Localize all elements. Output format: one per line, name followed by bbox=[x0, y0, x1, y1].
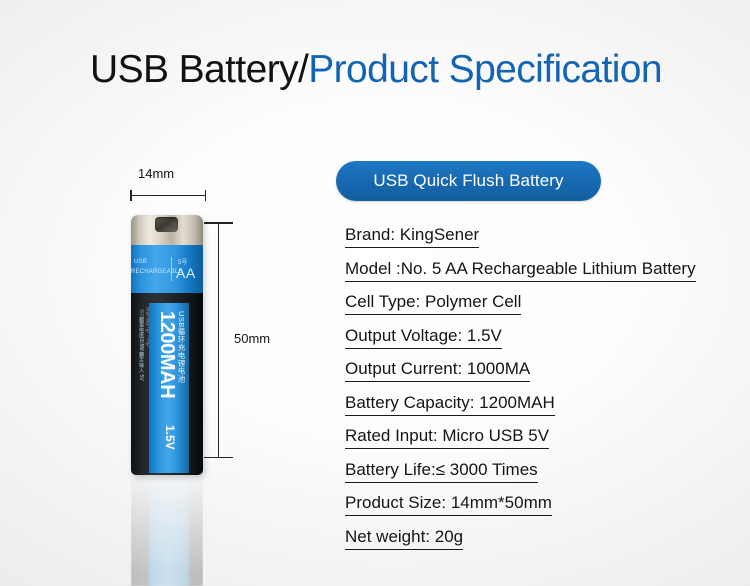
specification-line: Model :No. 5 AA Rechargeable Lithium Bat… bbox=[345, 258, 696, 282]
battery-product-image: USB RECHARGEABLE 5号 AA 请勿拆解、焦烧或短路 充电温度 0… bbox=[126, 210, 210, 480]
battery-band-divider bbox=[171, 257, 172, 281]
battery-reflection bbox=[131, 472, 203, 586]
battery-voltage-text: 1.5V bbox=[163, 425, 177, 450]
battery-capacity-text: 1200MAH bbox=[155, 311, 178, 398]
specification-line: Battery Life:≤ 3000 Times bbox=[345, 459, 538, 483]
battery-size-text: AA bbox=[176, 265, 196, 281]
product-badge: USB Quick Flush Battery bbox=[336, 161, 601, 201]
battery-usb-text: USB bbox=[134, 259, 147, 265]
specification-line: Output Voltage: 1.5V bbox=[345, 325, 502, 349]
specification-line: Output Current: 1000MA bbox=[345, 358, 530, 382]
page-title-accent: Product Specification bbox=[308, 48, 662, 91]
height-dimension-line bbox=[218, 222, 219, 458]
battery-positive-terminal bbox=[131, 215, 203, 248]
width-dimension-label: 14mm bbox=[138, 166, 174, 181]
product-spec-page: USB Battery/Product Specification 14mm 5… bbox=[0, 0, 750, 586]
battery-top-band: USB RECHARGEABLE 5号 AA bbox=[131, 245, 203, 295]
page-title: USB Battery/Product Specification bbox=[90, 48, 662, 92]
specification-line: Net weight: 20g bbox=[345, 526, 463, 550]
battery-reflection-strip bbox=[149, 474, 189, 586]
battery-cell: USB RECHARGEABLE 5号 AA 请勿拆解、焦烧或短路 充电温度 0… bbox=[131, 215, 203, 475]
battery-body: 请勿拆解、焦烧或短路 充电温度 0℃~45℃ 额定电压 1.5V 额定输入 5V… bbox=[131, 293, 203, 475]
battery-label-strip: 额定电压 1.5V 额定输入 5V USB循环充电锂电池 1200MAH 1.5… bbox=[149, 303, 189, 473]
specification-line: Brand: KingSener bbox=[345, 224, 479, 248]
product-badge-label: USB Quick Flush Battery bbox=[373, 171, 563, 191]
specification-line: Battery Capacity: 1200MAH bbox=[345, 392, 555, 416]
battery-side-text-1: 额定电压 1.5V 额定输入 5V bbox=[138, 317, 145, 381]
specification-line: Product Size: 14mm*50mm bbox=[345, 492, 552, 516]
specification-line: Cell Type: Polymer Cell bbox=[345, 291, 521, 315]
height-dimension-label: 50mm bbox=[234, 331, 270, 346]
battery-rechargeable-text: RECHARGEABLE bbox=[131, 269, 183, 275]
specification-line: Rated Input: Micro USB 5V bbox=[345, 425, 549, 449]
battery-reflection-body bbox=[131, 472, 203, 586]
page-title-primary: USB Battery/ bbox=[90, 48, 308, 91]
width-dimension-line bbox=[130, 195, 206, 196]
specification-list: Brand: KingSenerModel :No. 5 AA Recharge… bbox=[345, 224, 735, 559]
